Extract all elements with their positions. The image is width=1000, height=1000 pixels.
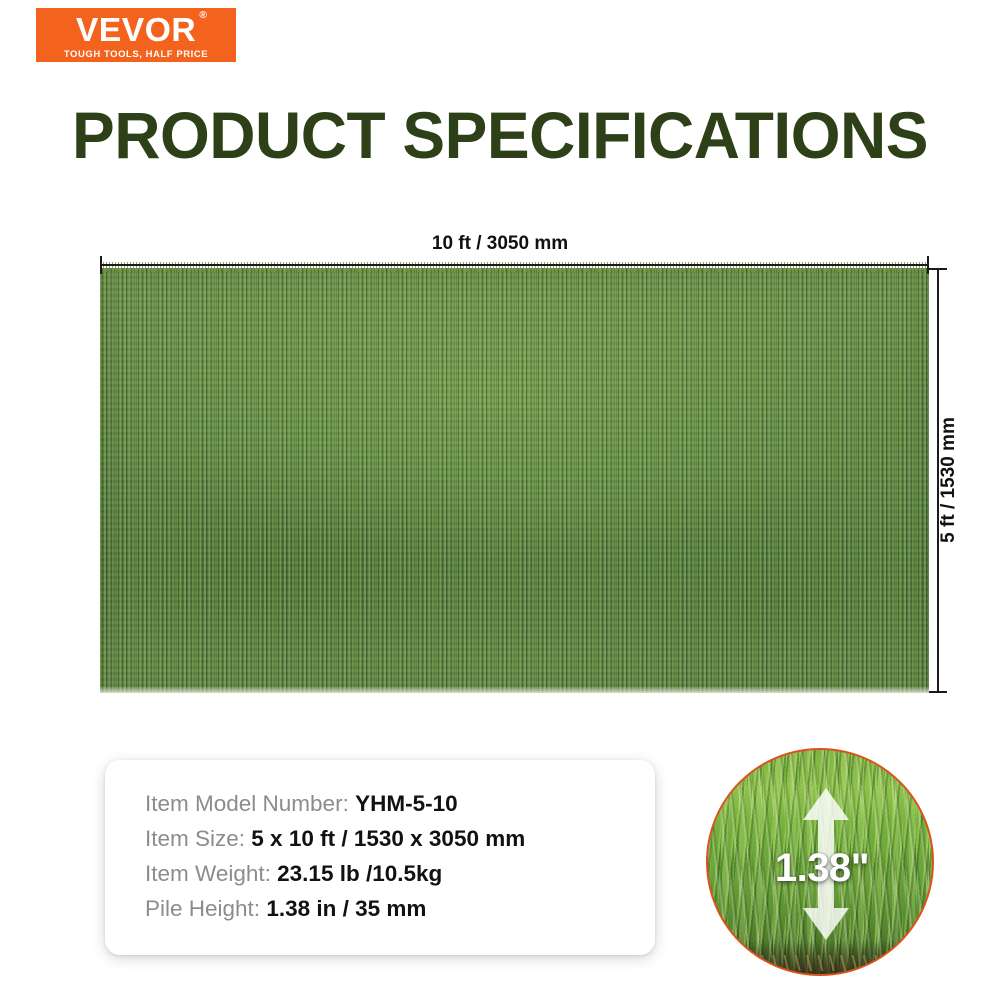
spec-row-pile-height: Pile Height: 1.38 in / 35 mm (145, 891, 655, 926)
width-dimension-right-tick (927, 256, 929, 274)
spec-label-pile-height: Pile Height: (145, 896, 260, 921)
spec-value-model: YHM-5-10 (355, 791, 458, 816)
width-dimension-left-tick (100, 256, 102, 274)
spec-label-size: Item Size: (145, 826, 245, 851)
spec-label-model: Item Model Number: (145, 791, 349, 816)
spec-row-weight: Item Weight: 23.15 lb /10.5kg (145, 856, 655, 891)
page-title: PRODUCT SPECIFICATIONS (15, 100, 985, 170)
spec-value-weight: 23.15 lb /10.5kg (277, 861, 442, 886)
width-dimension-line (100, 264, 929, 266)
spec-value-size: 5 x 10 ft / 1530 x 3050 mm (251, 826, 525, 851)
turf-product-image (100, 268, 929, 693)
registered-trademark-icon: ® (199, 11, 207, 21)
height-dimension-bottom-tick (929, 691, 947, 693)
pile-height-callout-label: 1.38" (708, 846, 934, 890)
brand-name: VEVOR® (76, 13, 196, 46)
spec-value-pile-height: 1.38 in / 35 mm (266, 896, 426, 921)
vevor-logo: VEVOR® TOUGH TOOLS, HALF PRICE (36, 8, 236, 62)
specifications-card: Item Model Number: YHM-5-10 Item Size: 5… (105, 760, 655, 955)
pile-height-detail-circle: 1.38" (706, 748, 934, 976)
brand-tagline: TOUGH TOOLS, HALF PRICE (64, 49, 208, 60)
width-dimension-label: 10 ft / 3050 mm (0, 233, 1000, 255)
spec-row-size: Item Size: 5 x 10 ft / 1530 x 3050 mm (145, 821, 655, 856)
spec-row-model: Item Model Number: YHM-5-10 (145, 786, 655, 821)
height-dimension-label: 5 ft / 1530 mm (938, 417, 960, 543)
height-dimension-top-tick (929, 268, 947, 270)
spec-label-weight: Item Weight: (145, 861, 271, 886)
product-specification-page: VEVOR® TOUGH TOOLS, HALF PRICE PRODUCT S… (0, 0, 1000, 1000)
